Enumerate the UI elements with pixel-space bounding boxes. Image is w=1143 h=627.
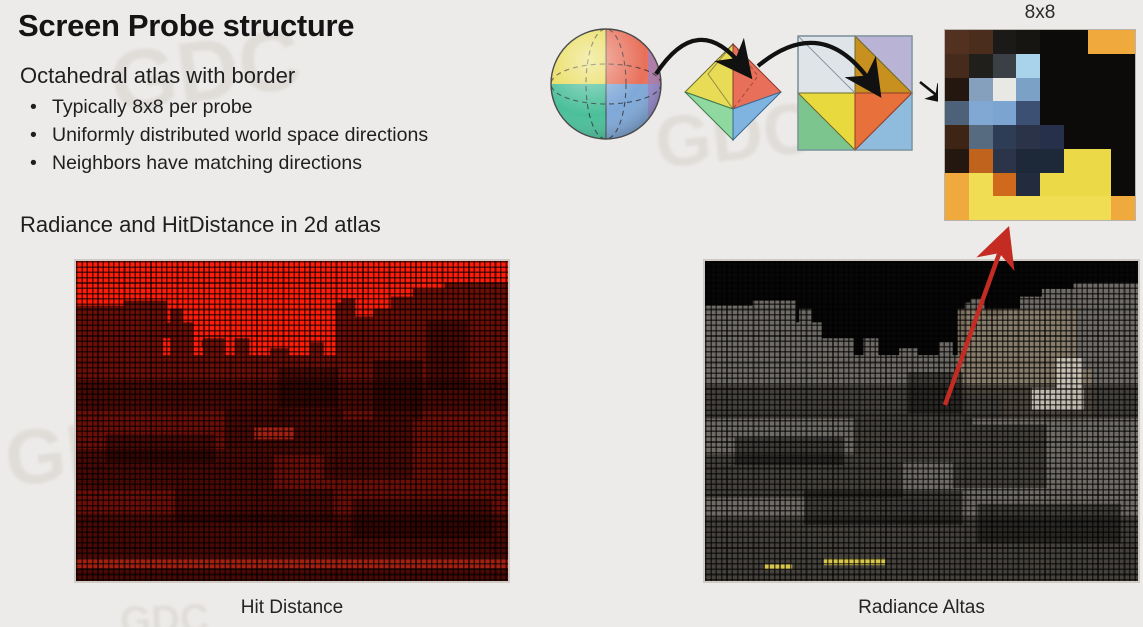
probe-pixel-6-4 — [1040, 173, 1064, 197]
probe-pixel-0-4 — [1040, 30, 1064, 54]
probe-pixel-7-6 — [1088, 196, 1112, 220]
probe-pixel-3-7 — [1111, 101, 1135, 125]
probe-pixel-2-4 — [1040, 78, 1064, 102]
bullet-text: Uniformly distributed world space direct… — [52, 124, 428, 146]
probe-pixel-0-3 — [1016, 30, 1040, 54]
probe-pixel-5-1 — [969, 149, 993, 173]
probe-pixel-7-7 — [1111, 196, 1135, 220]
probe-pixel-1-2 — [993, 54, 1017, 78]
section-subtitle: Octahedral atlas with border — [20, 63, 295, 89]
probe-pixel-2-1 — [969, 78, 993, 102]
probe-pixel-4-4 — [1040, 125, 1064, 149]
probe-pixel-6-5 — [1064, 173, 1088, 197]
hit-distance-scene — [76, 261, 508, 582]
radiance-atlas-caption: Radiance Altas — [703, 597, 1140, 619]
probe-pixel-2-6 — [1088, 78, 1112, 102]
probe-pixel-7-0 — [945, 196, 969, 220]
bullet-text: Neighbors have matching directions — [52, 152, 362, 174]
probe-pixel-0-2 — [993, 30, 1017, 54]
probe-pixel-5-0 — [945, 149, 969, 173]
atlas-to-probe-arrow — [920, 82, 938, 98]
slide-root: GDC GDC GDC GDC GDC Screen Probe structu… — [0, 0, 1143, 627]
probe-pixel-5-2 — [993, 149, 1017, 173]
probe-grid — [944, 29, 1136, 221]
probe-pixel-3-1 — [969, 101, 993, 125]
probe-pixel-5-6 — [1088, 149, 1112, 173]
probe-pixel-0-5 — [1064, 30, 1088, 54]
octahedral-atlas-square — [798, 36, 912, 150]
probe-pixel-0-0 — [945, 30, 969, 54]
bullet-dot-icon: • — [30, 121, 37, 149]
probe-pixel-5-4 — [1040, 149, 1064, 173]
probe-pixel-3-4 — [1040, 101, 1064, 125]
probe-pixel-2-0 — [945, 78, 969, 102]
probe-pixel-6-7 — [1111, 173, 1135, 197]
probe-pixel-6-3 — [1016, 173, 1040, 197]
probe-pixel-3-0 — [945, 101, 969, 125]
probe-pixel-0-6 — [1088, 30, 1112, 54]
list-item: • Uniformly distributed world space dire… — [22, 121, 428, 149]
radiance-scene — [705, 261, 1138, 582]
page-title: Screen Probe structure — [18, 8, 354, 44]
probe-pixel-6-6 — [1088, 173, 1112, 197]
probe-pixel-4-1 — [969, 125, 993, 149]
probe-pixel-1-1 — [969, 54, 993, 78]
probe-pixel-4-2 — [993, 125, 1017, 149]
probe-pixel-4-6 — [1088, 125, 1112, 149]
list-item: • Typically 8x8 per probe — [22, 93, 428, 121]
hit-distance-caption: Hit Distance — [74, 597, 510, 619]
probe-pixel-6-0 — [945, 173, 969, 197]
bullet-list: • Typically 8x8 per probe • Uniformly di… — [22, 93, 428, 177]
probe-pixel-1-4 — [1040, 54, 1064, 78]
probe-pixel-5-3 — [1016, 149, 1040, 173]
probe-pixel-3-3 — [1016, 101, 1040, 125]
probe-pixel-2-5 — [1064, 78, 1088, 102]
probe-pixel-4-7 — [1111, 125, 1135, 149]
probe-pixel-3-6 — [1088, 101, 1112, 125]
radiance-atlas — [703, 259, 1140, 583]
probe-pixel-3-5 — [1064, 101, 1088, 125]
probe-pixel-6-2 — [993, 173, 1017, 197]
probe-pixel-4-0 — [945, 125, 969, 149]
probe-pixel-7-1 — [969, 196, 993, 220]
octahedral-mapping-diagram — [548, 14, 938, 164]
probe-pixel-6-1 — [969, 173, 993, 197]
probe-pixel-1-5 — [1064, 54, 1088, 78]
probe-pixel-1-3 — [1016, 54, 1040, 78]
probe-pixel-0-1 — [969, 30, 993, 54]
probe-pixel-2-3 — [1016, 78, 1040, 102]
probe-pixel-3-2 — [993, 101, 1017, 125]
probe-pixel-4-3 — [1016, 125, 1040, 149]
probe-pixel-1-7 — [1111, 54, 1135, 78]
probe-pixel-0-7 — [1111, 30, 1135, 54]
probe-pixel-7-5 — [1064, 196, 1088, 220]
probe-pixel-2-2 — [993, 78, 1017, 102]
probe-pixel-7-2 — [993, 196, 1017, 220]
probe-pixel-7-4 — [1040, 196, 1064, 220]
bullet-dot-icon: • — [30, 149, 37, 177]
bullet-dot-icon: • — [30, 93, 37, 121]
probe-pixel-2-7 — [1111, 78, 1135, 102]
probe-pixel-1-6 — [1088, 54, 1112, 78]
probe-pixel-7-3 — [1016, 196, 1040, 220]
bullet-text: Typically 8x8 per probe — [52, 96, 253, 118]
probe-pixel-5-7 — [1111, 149, 1135, 173]
probe-pixel-1-0 — [945, 54, 969, 78]
list-item: • Neighbors have matching directions — [22, 149, 428, 177]
atlas-description-line: Radiance and HitDistance in 2d atlas — [20, 212, 381, 238]
probe-pixel-4-5 — [1064, 125, 1088, 149]
hit-distance-atlas — [74, 259, 510, 583]
probe-size-label: 8x8 — [944, 2, 1136, 24]
probe-pixel-5-5 — [1064, 149, 1088, 173]
probe-grid-wrap — [944, 29, 1136, 221]
